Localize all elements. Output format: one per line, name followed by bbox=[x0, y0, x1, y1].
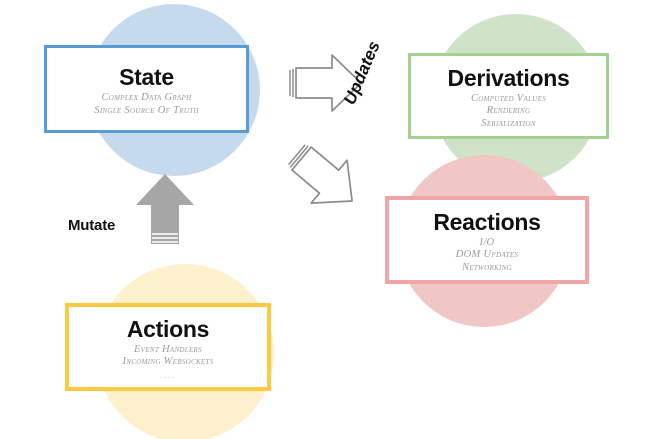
node-actions-title: Actions bbox=[127, 317, 209, 342]
node-state[interactable]: State Complex Data Graph Single Source O… bbox=[44, 45, 249, 133]
arrow-up-filled-icon bbox=[134, 172, 196, 252]
arrow-down-right-outline-icon bbox=[283, 141, 365, 219]
node-reactions-line-3: Networking bbox=[462, 262, 512, 275]
node-reactions[interactable]: Reactions I/O DOM Updates Networking bbox=[385, 196, 589, 284]
node-actions-line-3: .... bbox=[161, 369, 176, 382]
node-state-line-2: Single Source Of Truth bbox=[94, 105, 199, 118]
node-derivations-title: Derivations bbox=[448, 66, 570, 91]
node-reactions-line-2: DOM Updates bbox=[456, 249, 518, 262]
node-state-line-1: Complex Data Graph bbox=[102, 92, 192, 105]
node-derivations-line-2: Rendering bbox=[487, 105, 531, 118]
node-actions-line-1: Event Handlers bbox=[134, 344, 202, 357]
node-reactions-title: Reactions bbox=[433, 210, 540, 235]
node-derivations-line-3: Serialization bbox=[481, 118, 535, 131]
node-actions[interactable]: Actions Event Handlers Incoming Websocke… bbox=[65, 303, 271, 391]
node-state-title: State bbox=[119, 65, 174, 90]
node-reactions-line-1: I/O bbox=[480, 237, 495, 250]
node-derivations[interactable]: Derivations Computed Values Rendering Se… bbox=[408, 53, 609, 139]
node-derivations-line-1: Computed Values bbox=[471, 93, 546, 106]
node-actions-line-2: Incoming Websockets bbox=[123, 356, 214, 369]
diagram-canvas: State Complex Data Graph Single Source O… bbox=[0, 0, 661, 439]
connector-label-mutate: Mutate bbox=[68, 217, 115, 234]
